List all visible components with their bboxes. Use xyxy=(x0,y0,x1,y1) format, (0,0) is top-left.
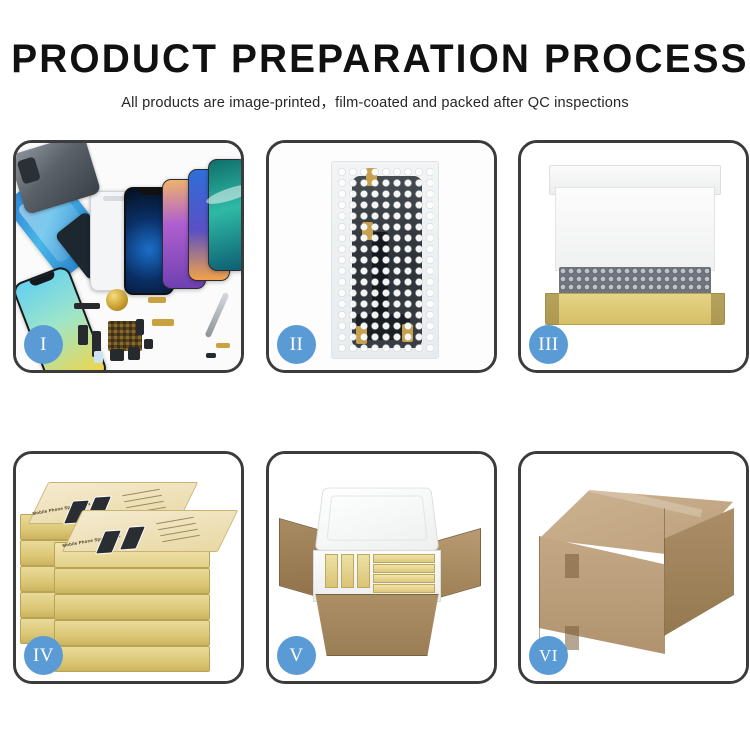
spare-part xyxy=(144,339,153,349)
step-badge-3: III xyxy=(529,325,568,364)
spare-part xyxy=(148,297,166,303)
page-title: PRODUCT PREPARATION PROCESS xyxy=(11,38,739,80)
carton-edge xyxy=(664,508,665,636)
carton-body xyxy=(307,594,447,656)
process-grid: I II xyxy=(13,140,737,688)
kraft-box-side-right xyxy=(711,293,725,325)
spare-part xyxy=(78,325,88,345)
infographic-page: PRODUCT PREPARATION PROCESS All products… xyxy=(0,0,750,750)
spare-part xyxy=(152,319,174,326)
process-step-2: II xyxy=(266,140,497,373)
retail-box xyxy=(54,594,210,620)
step-badge-4: IV xyxy=(24,636,63,675)
carton-tape-tab xyxy=(565,626,579,650)
spare-part xyxy=(94,351,103,363)
step-badge-2: II xyxy=(277,325,316,364)
process-step-6: VI xyxy=(518,451,749,684)
spare-part xyxy=(128,347,140,360)
header: PRODUCT PREPARATION PROCESS All products… xyxy=(0,38,750,112)
bubble-texture xyxy=(337,167,433,353)
step-numeral: VI xyxy=(539,646,558,666)
step-numeral: III xyxy=(538,334,558,356)
step-numeral: V xyxy=(289,645,303,667)
step-numeral: IV xyxy=(33,645,54,667)
retail-box-top-front xyxy=(62,510,238,552)
inner-retail-box-flat xyxy=(373,564,435,573)
inner-retail-box xyxy=(357,554,370,588)
process-step-4: Mobile Phone Spare Parts Mobile Phone Sp… xyxy=(13,451,244,684)
foam-sheet xyxy=(555,187,715,271)
process-step-3: III xyxy=(518,140,749,373)
spare-part xyxy=(110,349,124,361)
inner-retail-box-flat xyxy=(373,554,435,563)
foam-lid xyxy=(315,488,440,551)
inner-retail-box-flat xyxy=(373,584,435,593)
inner-retail-box xyxy=(325,554,338,588)
spare-part xyxy=(206,353,216,358)
inner-retail-box xyxy=(341,554,354,588)
carton-tape-tab xyxy=(565,554,579,578)
kraft-box-side-left xyxy=(545,293,559,325)
spare-part xyxy=(74,303,100,309)
retail-box xyxy=(54,646,210,672)
step-numeral: I xyxy=(40,334,47,356)
step-badge-1: I xyxy=(24,325,63,364)
kraft-box-tray xyxy=(545,293,725,325)
bubble-wrap-bag xyxy=(331,161,439,359)
step-badge-5: V xyxy=(277,636,316,675)
phone-display-teal xyxy=(208,159,241,271)
vibration-motor xyxy=(106,289,128,311)
step-badge-6: VI xyxy=(529,636,568,675)
spare-part xyxy=(136,319,144,335)
page-subtitle: All products are image-printed，film-coat… xyxy=(0,91,750,112)
retail-box xyxy=(54,620,210,646)
spare-part xyxy=(216,343,230,348)
carton-edge xyxy=(539,536,540,654)
retail-box xyxy=(54,568,210,594)
step-numeral: II xyxy=(290,334,304,356)
process-step-5: V xyxy=(266,451,497,684)
process-step-1: I xyxy=(13,140,244,373)
inner-retail-box-flat xyxy=(373,574,435,583)
